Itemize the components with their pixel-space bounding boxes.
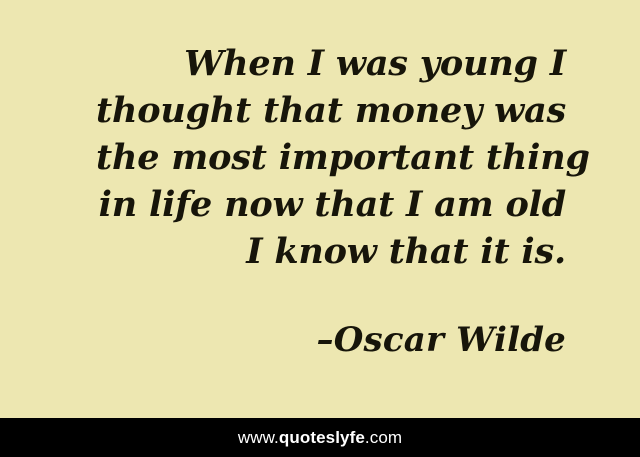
site-url-prefix: www. (238, 428, 279, 447)
quote-line: the most important thing (96, 134, 566, 181)
site-url: www.quoteslyfe.com (238, 429, 402, 446)
quote-line: thought that money was (96, 87, 566, 134)
quote-text: When I was young I thought that money wa… (96, 40, 566, 275)
quote-author: –Oscar Wilde (317, 275, 566, 361)
quote-line: When I was young I (96, 40, 566, 87)
quote-content-area: When I was young I thought that money wa… (0, 0, 640, 418)
quote-card: When I was young I thought that money wa… (0, 0, 640, 457)
site-url-suffix: .com (365, 428, 402, 447)
quote-line: I know that it is. (96, 228, 566, 275)
site-url-brand: quoteslyfe (279, 428, 365, 447)
site-footer: www.quoteslyfe.com (0, 418, 640, 457)
quote-line: in life now that I am old (96, 181, 566, 228)
